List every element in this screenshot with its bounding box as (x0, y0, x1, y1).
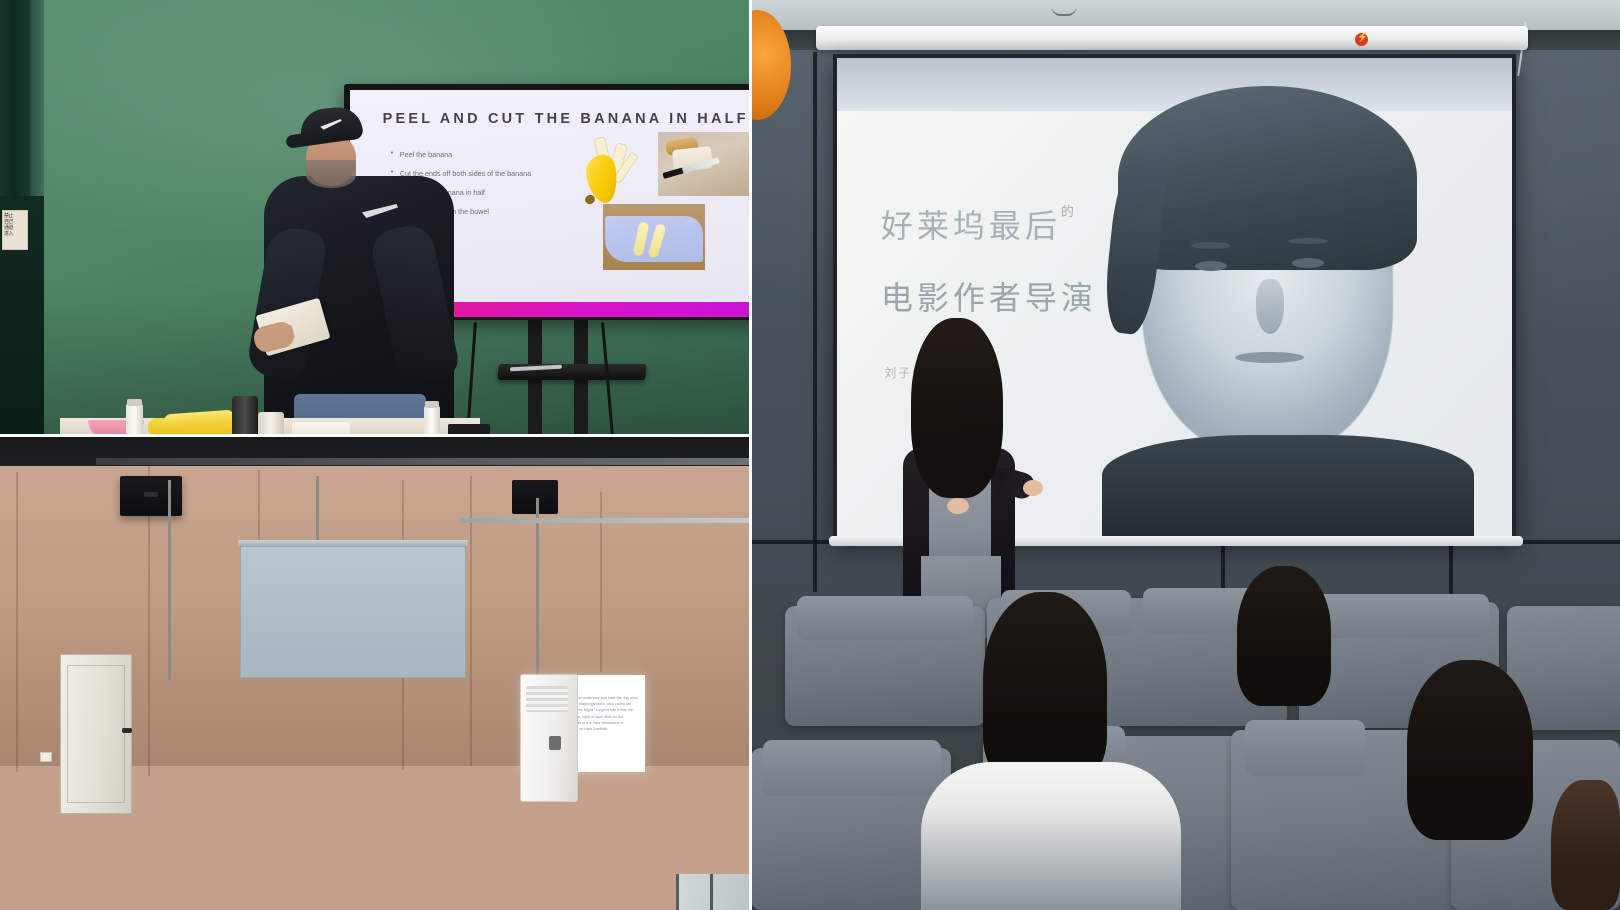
slide-heading-line-2: 电影作者导演 (881, 273, 1097, 319)
panel-cooking-demo: 禁止 自己 通道 进入 PEEL AND CUT THE BANANA IN H… (0, 0, 751, 436)
air-conditioner-panel[interactable] (549, 736, 561, 750)
panel-separator-horizontal (0, 434, 751, 437)
screen-mount-rail (460, 518, 751, 523)
audience-head (983, 592, 1107, 782)
audience-head (1237, 566, 1331, 706)
audience-head (1407, 660, 1533, 840)
wall-sign: 禁止 自己 通道 进入 (2, 210, 28, 250)
cooking-presenter (258, 108, 468, 436)
door-handle[interactable] (122, 728, 132, 733)
sofa-cushion (1311, 594, 1489, 638)
black-thermos (232, 396, 258, 436)
light-switch[interactable] (40, 752, 52, 762)
slide-heading-main: 好莱坞最后 (881, 207, 1061, 245)
spice-jar-2 (424, 406, 440, 436)
ceiling-speaker-left (120, 476, 182, 516)
wall-sign-line-4: 进入 (4, 231, 26, 237)
air-conditioner-vent (526, 686, 568, 712)
classroom-door (60, 654, 132, 814)
presenter-beard (306, 160, 356, 188)
speaker-hair (911, 318, 1003, 498)
projector-screen-roller (816, 26, 1528, 50)
banana-halves-photo (603, 204, 705, 270)
glass-sliding-door[interactable] (676, 874, 751, 910)
speaker-hand-left (947, 498, 969, 514)
measuring-cup (258, 412, 284, 436)
sofa-cushion (1245, 720, 1365, 776)
ceiling-speaker-right (512, 480, 558, 514)
glass-door-mullion (710, 874, 713, 910)
brand-logo-icon (1355, 33, 1368, 46)
sofa-cushion (763, 740, 941, 796)
ceiling-rail (96, 458, 751, 465)
audience-shoulders (921, 762, 1181, 910)
sofa-cushion (797, 596, 973, 640)
photo-collage: 禁止 自己 通道 进入 PEEL AND CUT THE BANANA IN H… (0, 0, 1620, 910)
panel-classroom-lecture: A lot of traditional activities are unde… (0, 436, 751, 910)
audience-head (1551, 780, 1620, 910)
banana-illustration (581, 137, 641, 209)
speaker-hand-right (1023, 480, 1043, 496)
projector-screen: A lot of traditional activities are unde… (240, 546, 466, 678)
panel-separator-vertical (749, 0, 752, 910)
director-portrait-photo (1094, 77, 1499, 536)
knife-cutting-banana-photo (658, 132, 751, 196)
portrait-shoulders (1102, 435, 1475, 536)
slide-heading-line-1: 好莱坞最后的 (881, 201, 1074, 247)
slide-heading-suffix: 的 (1061, 205, 1074, 220)
panel-film-lecture: 好莱坞最后的 电影作者导演 刘子佩 (751, 0, 1620, 910)
portrait-nose (1256, 279, 1284, 334)
spice-jar-1 (126, 404, 143, 436)
